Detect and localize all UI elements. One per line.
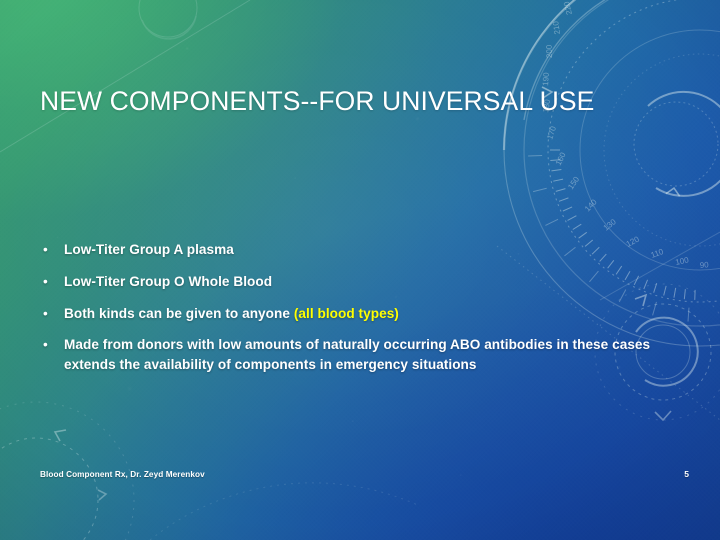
list-item-text: Low-Titer Group O Whole Blood [64, 274, 272, 289]
list-item-highlight: (all blood types) [294, 306, 399, 321]
slide-number: 5 [684, 469, 689, 479]
bullet-dot-icon: • [43, 240, 48, 259]
slide-title: NEW COMPONENTS--FOR UNIVERSAL USE [40, 86, 660, 116]
bullet-dot-icon: • [43, 335, 48, 354]
list-item: •Made from donors with low amounts of na… [40, 335, 660, 374]
bullet-dot-icon: • [43, 272, 48, 291]
bullet-list: •Low-Titer Group A plasma •Low-Titer Gro… [40, 240, 660, 374]
list-item-text: Low-Titer Group A plasma [64, 242, 234, 257]
bullet-dot-icon: • [43, 304, 48, 323]
list-item-text: Made from donors with low amounts of nat… [64, 337, 650, 371]
presentation-slide: 220 210 200 190 180 170 160 150 140 130 … [0, 0, 720, 540]
footer-label: Blood Component Rx, Dr. Zeyd Merenkov [40, 470, 205, 479]
list-item: •Low-Titer Group O Whole Blood [40, 272, 660, 291]
list-item-text: Both kinds can be given to anyone [64, 306, 294, 321]
list-item: •Both kinds can be given to anyone (all … [40, 304, 660, 323]
list-item: •Low-Titer Group A plasma [40, 240, 660, 259]
